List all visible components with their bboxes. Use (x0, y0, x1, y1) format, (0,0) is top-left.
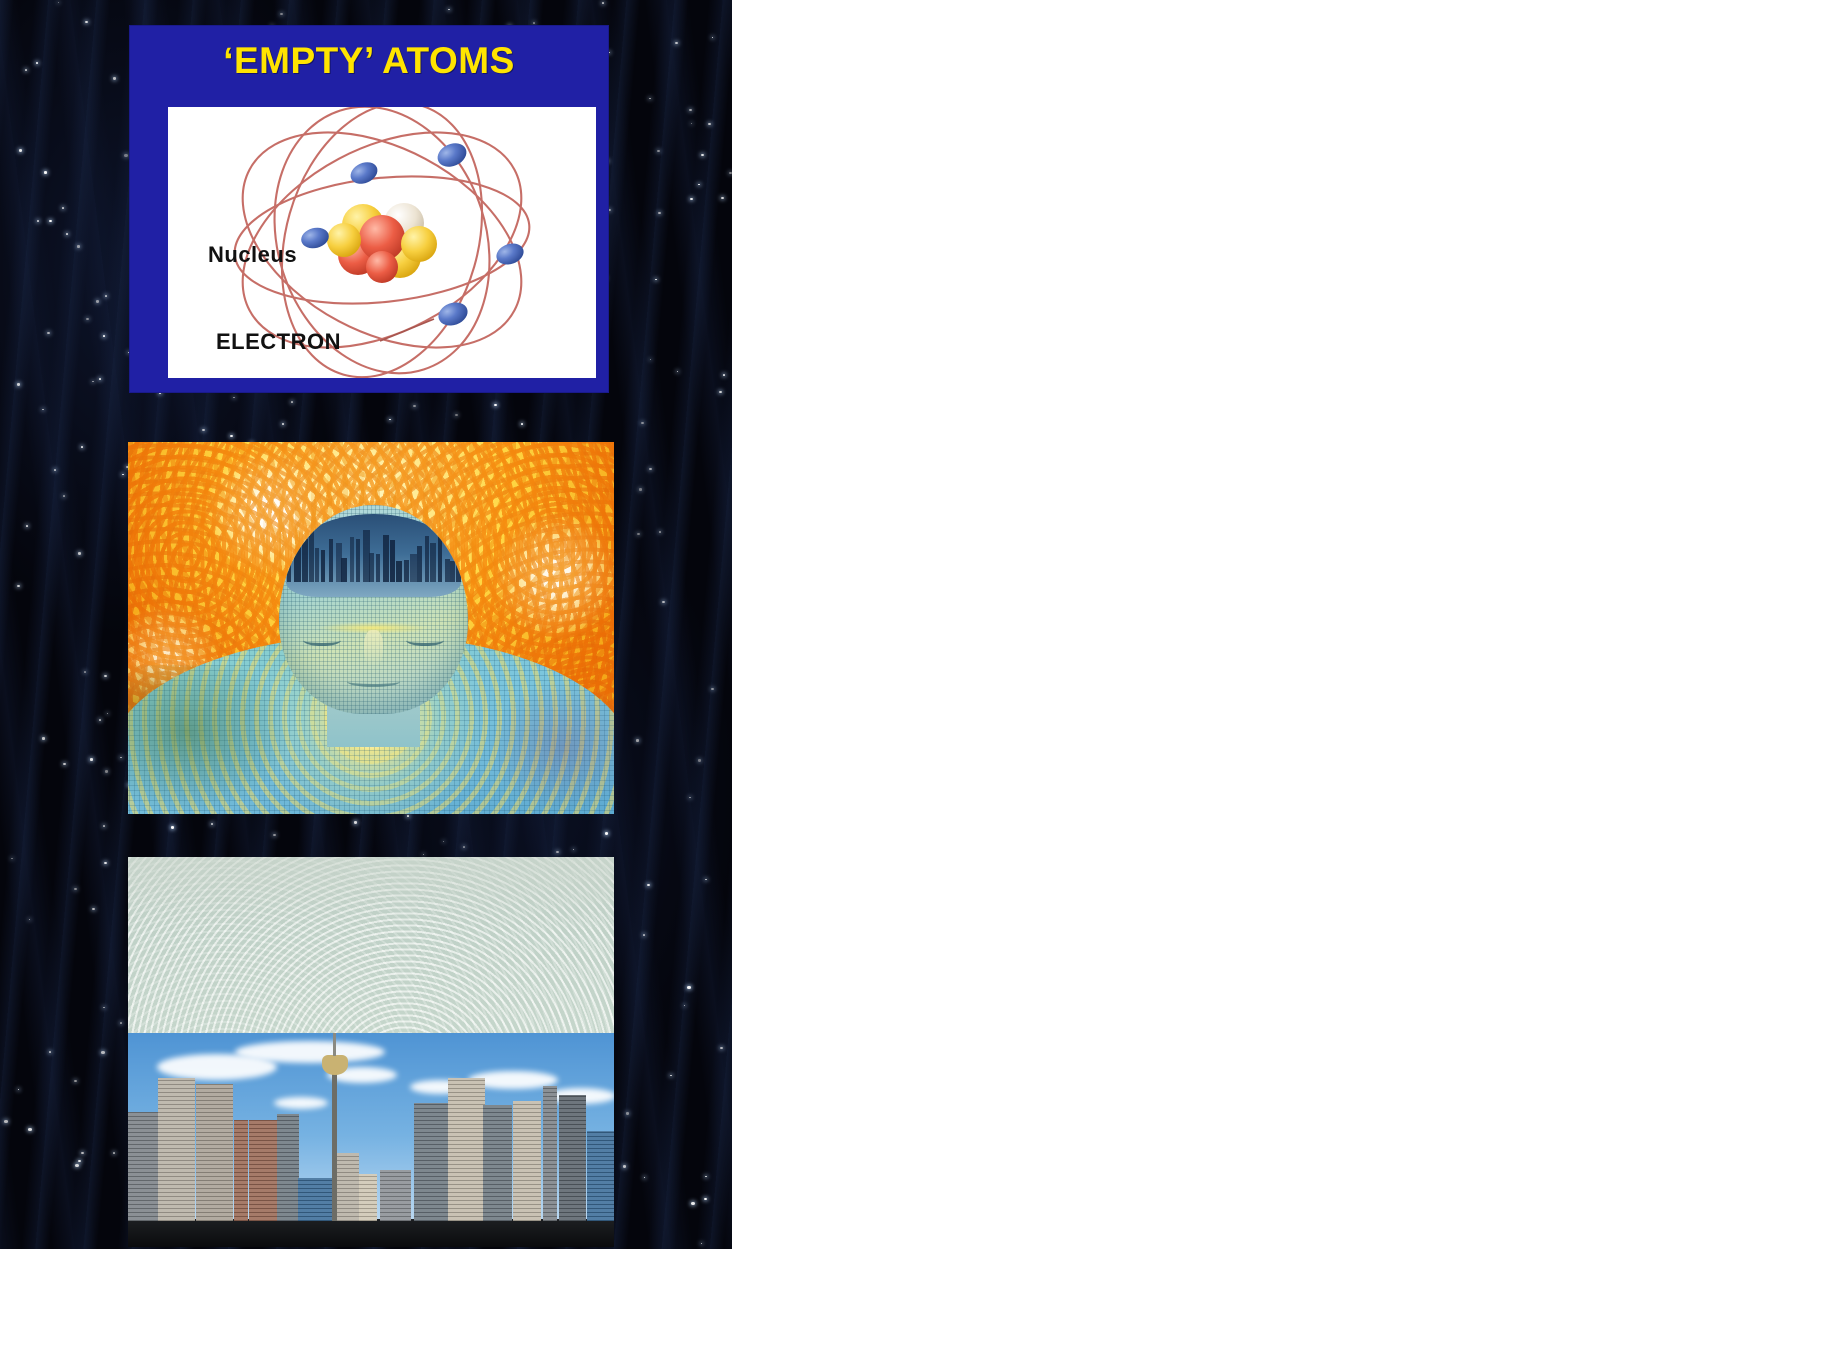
tower-spire (333, 1033, 336, 1057)
star-dot (354, 821, 357, 824)
star-dot (171, 826, 174, 829)
electron-label: ELECTRON (216, 329, 341, 355)
star-dot (698, 759, 701, 762)
star-dot (689, 797, 691, 798)
star-dot (280, 13, 283, 15)
head-city-building (450, 561, 455, 582)
head-city-building (430, 543, 436, 582)
star-dot (90, 758, 93, 761)
electron-leader-line (380, 319, 434, 341)
skyline-building (234, 1120, 248, 1221)
star-dot (211, 823, 213, 825)
star-dot (719, 391, 722, 393)
skyline-building (543, 1086, 557, 1221)
figure-body-shadow-right (488, 680, 614, 814)
head-city-building (294, 536, 301, 582)
star-dot (202, 429, 205, 431)
star-dot (647, 884, 650, 886)
star-dot (659, 531, 661, 533)
star-dot (113, 77, 116, 80)
skyline-building (559, 1095, 586, 1222)
star-dot (84, 671, 86, 673)
slide-water-and-city (128, 857, 614, 1247)
cloud (235, 1041, 385, 1063)
nucleus-cluster (327, 203, 437, 283)
water-haze (128, 857, 614, 1033)
star-dot (103, 335, 105, 337)
star-dot (691, 1202, 695, 1205)
star-dot (704, 1198, 707, 1200)
figure-head (279, 505, 469, 713)
skyline-building (513, 1101, 541, 1221)
star-dot (602, 2, 604, 4)
head-city-building (350, 537, 354, 582)
star-dot (78, 1160, 81, 1162)
head-city-building (356, 539, 360, 582)
star-dot (675, 42, 678, 44)
star-dot (49, 220, 52, 222)
head-city-building (396, 561, 402, 582)
star-dot (626, 1112, 629, 1115)
star-dot (687, 986, 691, 989)
skyline-building (277, 1114, 299, 1221)
star-dot (291, 401, 293, 403)
city-skyline (128, 1033, 614, 1248)
atom-diagram-image: Nucleus ELECTRON (168, 107, 596, 378)
star-dot (708, 123, 711, 125)
skyline-building (336, 1153, 359, 1222)
star-dot (99, 378, 101, 380)
head-city-building (404, 560, 409, 582)
star-dot (66, 233, 68, 235)
star-dot (62, 207, 64, 209)
star-dot (723, 374, 725, 376)
head-city-building (376, 554, 381, 581)
star-dot (54, 469, 56, 471)
star-dot (721, 197, 724, 199)
figure-body-shadow-left (128, 665, 293, 814)
star-dot (101, 1051, 105, 1054)
star-dot (639, 488, 642, 491)
star-dot (533, 22, 535, 24)
star-dot (78, 552, 81, 555)
slide-canvas: ‘EMPTY’ ATOMS (0, 0, 1824, 1368)
tower-shaft (332, 1063, 337, 1222)
star-dot (407, 815, 409, 817)
star-dot (105, 770, 108, 773)
head-city-building (302, 539, 309, 581)
star-dot (42, 737, 45, 740)
star-dot (273, 834, 276, 836)
star-dot (85, 21, 88, 23)
skyline-building (359, 1174, 378, 1221)
star-dot (658, 212, 661, 214)
star-dot (124, 154, 128, 157)
star-dot (17, 585, 20, 587)
slide-empty-atoms: ‘EMPTY’ ATOMS (130, 26, 608, 392)
head-city-building (456, 545, 460, 582)
star-dot (63, 763, 66, 765)
star-dot (47, 332, 50, 334)
head-city-building (287, 557, 291, 582)
star-dot (44, 171, 47, 174)
star-dot (92, 908, 95, 910)
star-dot (655, 279, 657, 280)
star-dot (4, 1120, 8, 1123)
star-dot (75, 1164, 79, 1167)
star-dot (17, 383, 20, 386)
star-dot (37, 220, 39, 222)
head-city-building (341, 558, 347, 582)
figure-eye-right (406, 634, 444, 645)
star-dot (25, 69, 27, 71)
star-dot (662, 601, 665, 603)
star-dot (77, 245, 80, 248)
star-dot (698, 184, 700, 185)
head-city-building (315, 548, 319, 582)
star-dot (605, 832, 608, 835)
head-city-building (369, 553, 374, 582)
skyline-building (483, 1105, 513, 1221)
star-dot (556, 851, 559, 853)
skyline-building (298, 1178, 336, 1221)
figure-eye-left (303, 634, 341, 645)
star-dot (623, 1165, 626, 1168)
cloud (274, 1097, 328, 1109)
skyline-building (158, 1078, 195, 1222)
star-dot (636, 739, 639, 742)
skyline-building (196, 1084, 233, 1221)
star-dot (103, 1007, 105, 1008)
star-dot (230, 435, 233, 437)
skyline-building (414, 1103, 448, 1221)
skyline-building (448, 1078, 485, 1222)
star-dot (689, 109, 692, 111)
star-dot (701, 154, 704, 156)
head-city-building (425, 536, 429, 582)
star-dot (86, 318, 89, 320)
star-dot (455, 414, 458, 416)
star-dot (641, 422, 644, 424)
head-city-building (309, 519, 313, 581)
star-dot (463, 846, 465, 848)
star-dot (720, 1047, 723, 1049)
star-dot (99, 719, 101, 721)
head-city-building (410, 554, 417, 582)
star-dot (105, 295, 107, 297)
skyline-building (128, 1112, 158, 1221)
slide-consciousness-artwork (128, 442, 614, 814)
star-dot (26, 525, 28, 527)
star-dot (644, 1177, 645, 1178)
star-dot (120, 1022, 122, 1024)
head-city-building (321, 550, 326, 582)
star-dot (96, 300, 99, 303)
slide-title: ‘EMPTY’ ATOMS (130, 42, 608, 79)
figure-nose (364, 630, 383, 667)
star-dot (28, 1128, 32, 1131)
head-city-building (438, 523, 442, 582)
head-city-building (383, 535, 390, 582)
skyline-foreground (128, 1219, 614, 1247)
head-city-building (417, 546, 423, 582)
head-city-building (390, 540, 395, 582)
skyline-building (380, 1170, 411, 1221)
skyline-building (249, 1120, 279, 1221)
skyline-building (587, 1131, 614, 1221)
star-dot (521, 423, 523, 425)
nucleus-label: Nucleus (208, 242, 297, 268)
head-city-building (329, 539, 332, 581)
